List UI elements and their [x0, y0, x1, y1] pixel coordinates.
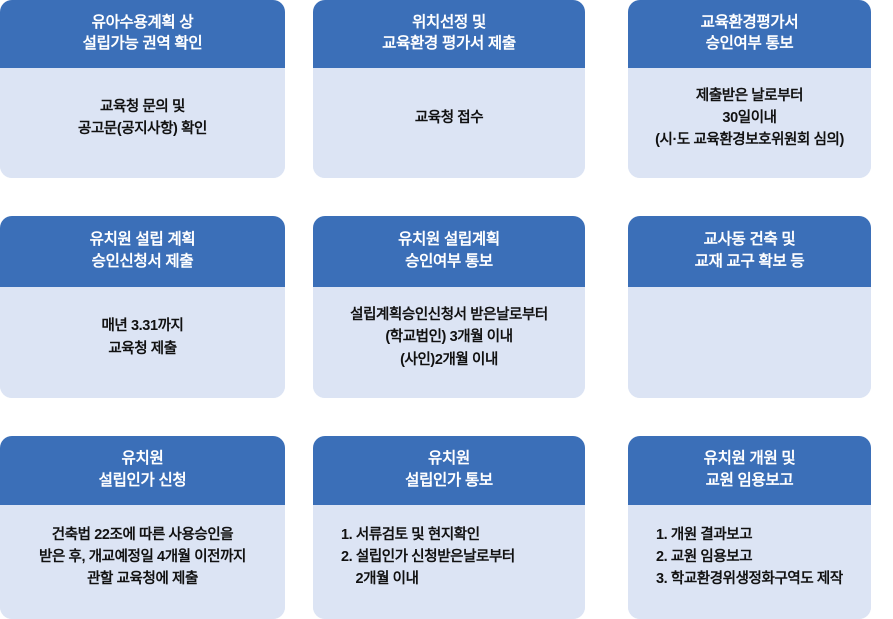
- process-card-body-step-5: 설립계획승인신청서 받은날로부터(학교법인) 3개월 이내(사인)2개월 이내: [313, 287, 585, 398]
- body-line: 2. 설립인가 신청받은날로부터: [341, 546, 515, 568]
- process-card-header-step-4: 유치원 설립 계획승인신청서 제출: [0, 216, 285, 287]
- process-card-step-9: 유치원 개원 및교원 임용보고1. 개원 결과보고2. 교원 임용보고3. 학교…: [628, 436, 871, 619]
- header-line: 위치선정 및: [412, 12, 486, 33]
- header-line: 교육환경 평가서 제출: [382, 33, 516, 54]
- header-line: 설립가능 권역 확인: [83, 33, 203, 54]
- header-line: 유치원 설립계획: [398, 229, 500, 250]
- body-line: 교육청 제출: [108, 338, 176, 360]
- process-card-body-step-4: 매년 3.31까지교육청 제출: [0, 287, 285, 398]
- header-line: 유치원 개원 및: [704, 448, 796, 469]
- process-card-step-2: 위치선정 및교육환경 평가서 제출교육청 접수: [313, 0, 585, 178]
- header-line: 유아수용계획 상: [92, 12, 194, 33]
- process-card-body-step-7: 건축법 22조에 따른 사용승인을받은 후, 개교예정일 4개월 이전까지관할 …: [0, 505, 285, 619]
- header-line: 교육환경평가서: [701, 12, 799, 33]
- body-line: 1. 개원 결과보고: [656, 524, 752, 546]
- body-line: 받은 후, 개교예정일 4개월 이전까지: [39, 546, 246, 568]
- header-line: 승인신청서 제출: [92, 251, 194, 272]
- process-card-body-step-2: 교육청 접수: [313, 68, 585, 178]
- body-line: 매년 3.31까지: [101, 315, 183, 337]
- process-card-step-5: 유치원 설립계획승인여부 통보설립계획승인신청서 받은날로부터(학교법인) 3개…: [313, 216, 585, 398]
- header-line: 유치원: [122, 448, 164, 469]
- body-line: 2. 교원 임용보고: [656, 546, 752, 568]
- body-line: 3. 학교환경위생정화구역도 제작: [656, 568, 843, 590]
- header-line: 승인여부 통보: [405, 251, 493, 272]
- process-card-step-1: 유아수용계획 상설립가능 권역 확인교육청 문의 및공고문(공지사항) 확인: [0, 0, 285, 178]
- process-card-header-step-2: 위치선정 및교육환경 평가서 제출: [313, 0, 585, 68]
- process-card-body-step-6: [628, 287, 871, 398]
- process-card-step-6: 교사동 건축 및교재 교구 확보 등: [628, 216, 871, 398]
- body-line: 설립계획승인신청서 받은날로부터: [350, 304, 548, 326]
- header-line: 교사동 건축 및: [704, 229, 796, 250]
- header-line: 설립인가 신청: [99, 470, 187, 491]
- process-card-header-step-3: 교육환경평가서승인여부 통보: [628, 0, 871, 68]
- header-line: 승인여부 통보: [706, 33, 794, 54]
- process-card-header-step-6: 교사동 건축 및교재 교구 확보 등: [628, 216, 871, 287]
- body-line: 2개월 이내: [341, 568, 419, 590]
- body-line: 1. 서류검토 및 현지확인: [341, 524, 480, 546]
- process-flow-grid: 유아수용계획 상설립가능 권역 확인교육청 문의 및공고문(공지사항) 확인위치…: [0, 0, 893, 611]
- body-line: (사인)2개월 이내: [400, 349, 498, 371]
- process-card-step-3: 교육환경평가서승인여부 통보제출받은 날로부터30일이내(시·도 교육환경보호위…: [628, 0, 871, 178]
- process-card-header-step-7: 유치원설립인가 신청: [0, 436, 285, 505]
- process-card-header-step-8: 유치원설립인가 통보: [313, 436, 585, 505]
- process-card-body-step-9: 1. 개원 결과보고2. 교원 임용보고3. 학교환경위생정화구역도 제작: [628, 505, 871, 619]
- process-card-step-4: 유치원 설립 계획승인신청서 제출매년 3.31까지교육청 제출: [0, 216, 285, 398]
- body-line: 제출받은 날로부터: [696, 85, 803, 107]
- process-card-body-step-3: 제출받은 날로부터30일이내(시·도 교육환경보호위원회 심의): [628, 68, 871, 178]
- process-card-body-step-8: 1. 서류검토 및 현지확인2. 설립인가 신청받은날로부터 2개월 이내: [313, 505, 585, 619]
- process-card-step-7: 유치원설립인가 신청건축법 22조에 따른 사용승인을받은 후, 개교예정일 4…: [0, 436, 285, 619]
- body-line: (학교법인) 3개월 이내: [385, 326, 512, 348]
- body-line: 공고문(공지사항) 확인: [78, 118, 207, 140]
- body-line: (시·도 교육환경보호위원회 심의): [655, 129, 844, 151]
- body-line: 30일이내: [722, 107, 776, 129]
- header-line: 설립인가 통보: [405, 470, 493, 491]
- header-line: 교재 교구 확보 등: [695, 251, 805, 272]
- header-line: 교원 임용보고: [706, 470, 794, 491]
- process-card-step-8: 유치원설립인가 통보1. 서류검토 및 현지확인2. 설립인가 신청받은날로부터…: [313, 436, 585, 619]
- body-line: 관할 교육청에 제출: [87, 568, 198, 590]
- header-line: 유치원: [428, 448, 470, 469]
- body-line: 교육청 접수: [415, 107, 483, 129]
- body-line: 건축법 22조에 따른 사용승인을: [52, 524, 234, 546]
- process-card-header-step-9: 유치원 개원 및교원 임용보고: [628, 436, 871, 505]
- process-card-header-step-1: 유아수용계획 상설립가능 권역 확인: [0, 0, 285, 68]
- body-line: 교육청 문의 및: [100, 96, 185, 118]
- process-card-header-step-5: 유치원 설립계획승인여부 통보: [313, 216, 585, 287]
- process-card-body-step-1: 교육청 문의 및공고문(공지사항) 확인: [0, 68, 285, 178]
- header-line: 유치원 설립 계획: [90, 229, 196, 250]
